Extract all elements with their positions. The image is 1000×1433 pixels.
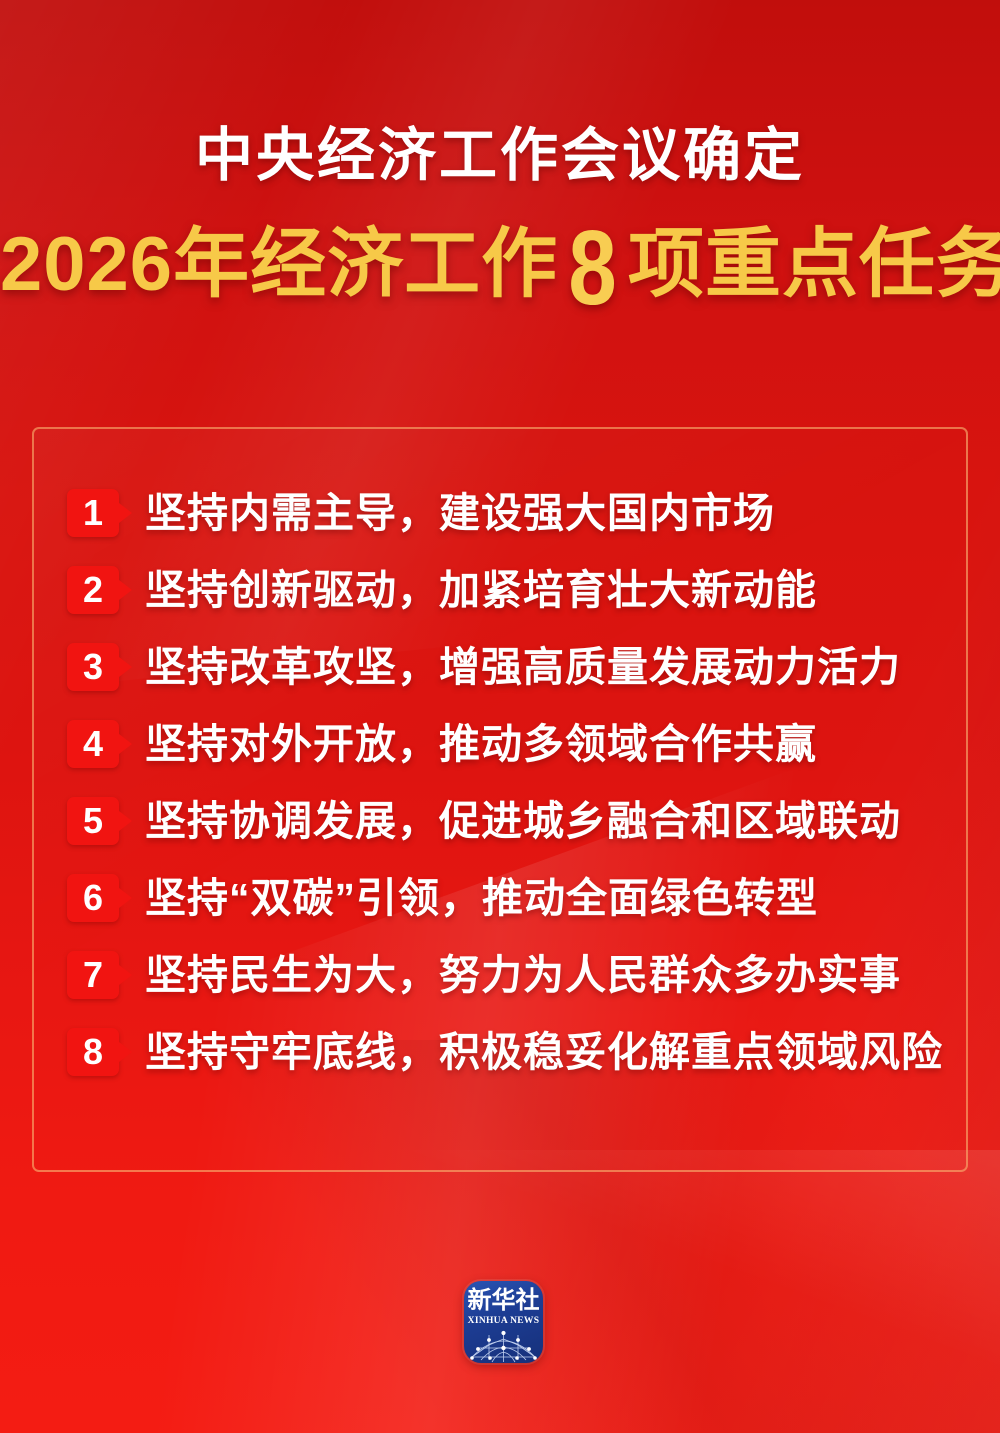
task-number: 7 [83,957,103,993]
network-globe-icon [464,1327,543,1363]
task-number: 8 [83,1034,103,1070]
task-number-badge: 3 [67,643,119,691]
task-text: 坚持改革攻坚，增强高质量发展动力活力 [145,644,901,690]
tasks-list: 1 坚持内需主导，建设强大国内市场 2 坚持创新驱动，加紧培育壮大新动能 3 坚… [67,474,947,1090]
task-text: 坚持守牢底线，积极稳妥化解重点领域风险 [145,1029,943,1075]
task-number-badge: 5 [67,797,119,845]
task-row: 3 坚持改革攻坚，增强高质量发展动力活力 [67,628,947,705]
task-text: 坚持内需主导，建设强大国内市场 [145,490,775,536]
task-number-badge: 8 [67,1028,119,1076]
task-text: 坚持协调发展，促进城乡融合和区域联动 [145,798,901,844]
task-number: 4 [83,726,103,762]
logo-name-en: XINHUA NEWS [464,1316,543,1327]
poster-canvas: 中央经济工作会议确定 2026年经济工作8项重点任务 1 坚持内需主导，建设强大… [0,0,1000,1433]
task-number-badge: 1 [67,489,119,537]
task-number: 2 [83,572,103,608]
task-text: 坚持“双碳”引领，推动全面绿色转型 [145,875,818,921]
task-row: 5 坚持协调发展，促进城乡融合和区域联动 [67,782,947,859]
task-number-badge: 7 [67,951,119,999]
task-row: 6 坚持“双碳”引领，推动全面绿色转型 [67,859,947,936]
poster-subheading: 2026年经济工作8项重点任务 [0,223,1000,307]
task-text: 坚持创新驱动，加紧培育壮大新动能 [145,567,817,613]
task-number-badge: 6 [67,874,119,922]
task-row: 8 坚持守牢底线，积极稳妥化解重点领域风险 [67,1013,947,1090]
xinhua-news-logo: 新华社 XINHUA NEWS [464,1281,543,1363]
logo-name-cn: 新华社 [464,1288,543,1314]
task-number: 5 [83,803,103,839]
task-number-badge: 4 [67,720,119,768]
task-row: 1 坚持内需主导，建设强大国内市场 [67,474,947,551]
task-text: 坚持民生为大，努力为人民群众多办实事 [145,952,901,998]
task-number: 1 [83,495,103,531]
task-row: 2 坚持创新驱动，加紧培育壮大新动能 [67,551,947,628]
task-number-badge: 2 [67,566,119,614]
poster-heading: 中央经济工作会议确定 [0,124,1000,188]
task-row: 4 坚持对外开放，推动多领域合作共赢 [67,705,947,782]
subheading-text-after: 项重点任务 [628,222,1000,307]
task-text: 坚持对外开放，推动多领域合作共赢 [145,721,817,767]
tasks-panel: 1 坚持内需主导，建设强大国内市场 2 坚持创新驱动，加紧培育壮大新动能 3 坚… [32,427,968,1172]
subheading-text-before: 2026年经济工作 [0,222,558,307]
task-number: 6 [83,880,103,916]
task-number: 3 [83,649,103,685]
task-row: 7 坚持民生为大，努力为人民群众多办实事 [67,936,947,1013]
